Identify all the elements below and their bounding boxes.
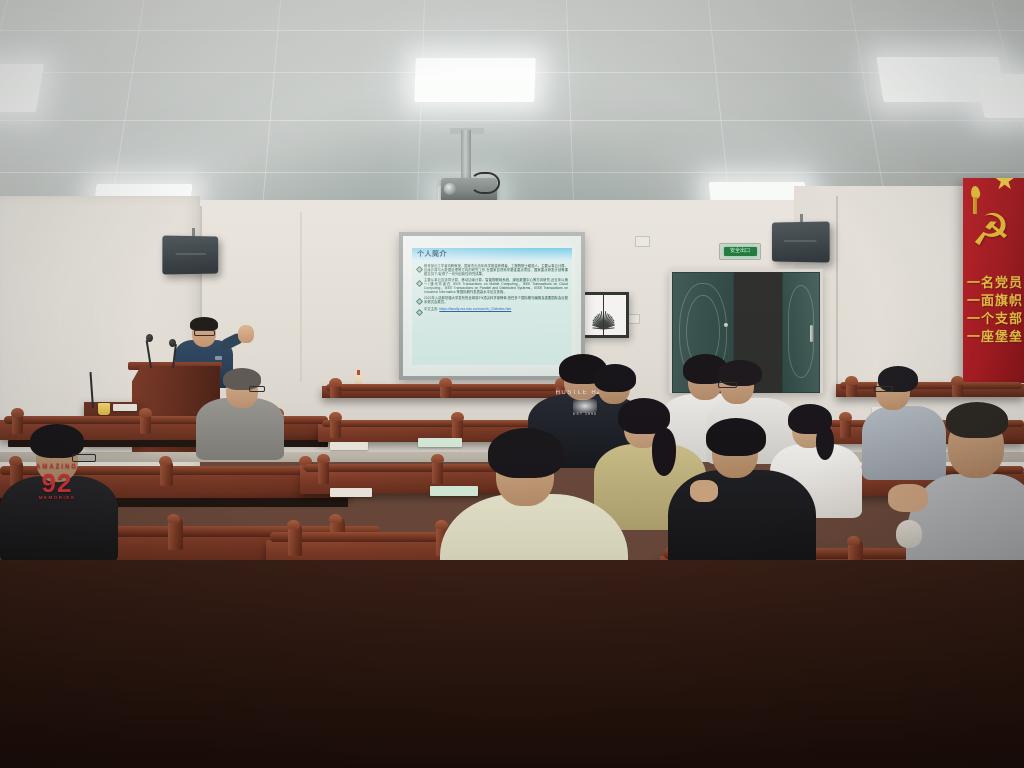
exit-sign-text: 安全出口 xyxy=(730,247,750,256)
door-knob-icon[interactable] xyxy=(724,323,728,327)
door-handle-icon[interactable] xyxy=(810,325,813,342)
slide-hyperlink[interactable]: https://faculty.xxx.edu.cn/xxxx/zh_CN/in… xyxy=(439,307,511,311)
projection-screen: 个人简介 教育部长江学者特聘教授、国家杰出青年科学基金获得者、工程院院士候选人。… xyxy=(399,232,585,380)
tshirt-text-bottom: EST 1990 xyxy=(550,413,620,417)
door-leaf-right-open[interactable] xyxy=(782,272,820,393)
tshirt-text-number: 92 xyxy=(20,470,94,496)
projector-lens-icon xyxy=(444,183,456,195)
hand-at-chin xyxy=(690,480,718,502)
wall-speaker-left xyxy=(162,235,218,274)
table-paper[interactable] xyxy=(113,404,137,411)
projector-cable xyxy=(470,172,500,194)
bullet-marker-icon xyxy=(416,309,423,316)
ponytail xyxy=(652,428,676,476)
ponytail xyxy=(816,426,834,460)
desk-paper[interactable] xyxy=(418,438,462,447)
lecture-hall-photo: 安全出口 xyxy=(0,0,1024,768)
desk-paper[interactable] xyxy=(430,486,478,496)
microphone-head-icon xyxy=(146,334,153,342)
tshirt-text-bottom: MEMORIES xyxy=(20,496,94,501)
banner-line: 一面旗帜 xyxy=(967,292,1022,310)
ceiling-light-panel xyxy=(975,74,1024,118)
presenter-hair xyxy=(190,317,218,331)
slide-title-bar: 个人简介 xyxy=(412,248,572,262)
exit-sign: 安全出口 xyxy=(719,243,761,260)
eyeglasses-icon xyxy=(718,382,737,388)
slide-bullet: 中文主页: https://faculty.xxx.edu.cn/xxxx/zh… xyxy=(417,308,568,315)
bullet-marker-icon xyxy=(416,266,423,273)
eyeglasses-icon xyxy=(249,386,265,392)
bullet-marker-icon xyxy=(416,280,423,287)
slide-bullet-text: 教育部长江学者特聘教授、国家杰出青年科学基金获得者、工程院院士候选人。主要从事云… xyxy=(424,265,568,277)
banner-line: 一座堡垒 xyxy=(967,328,1022,346)
presenter-hand-gesture xyxy=(238,325,254,343)
banner-line: 一个支部 xyxy=(967,310,1022,328)
banner-line: 一名党员 xyxy=(967,274,1022,292)
hammer-and-sickle-icon: ☭ xyxy=(969,200,1013,262)
slide-bullet-label: 中文主页: xyxy=(424,307,438,311)
ceiling-light-panel xyxy=(414,58,536,102)
slide-title-text: 个人简介 xyxy=(412,248,572,262)
floor xyxy=(0,560,1024,768)
clasped-hands xyxy=(888,484,928,512)
desk-paper[interactable] xyxy=(330,442,368,450)
tshirt-graphic: AMAZING 92 MEMORIES xyxy=(20,464,94,501)
presentation-slide: 个人简介 教育部长江学者特聘教授、国家杰出青年科学基金获得者、工程院院士候选人。… xyxy=(412,248,572,365)
tshirt-emblem-icon xyxy=(573,399,597,413)
slide-bullet-text: 2022年入选斯坦福大学发布的全球前2%顶尖科学家榜单,担任多个国际期刊编委及重… xyxy=(424,297,568,305)
microphone-head-icon xyxy=(169,339,176,347)
eyeglasses-icon xyxy=(72,454,96,462)
party-slogan-banner: ★ ☭ 一名党员 一面旗帜 一个支部 一座堡垒 xyxy=(963,178,1024,383)
tshirt-text-top: AMAZING xyxy=(20,464,94,470)
wall-outlet[interactable] xyxy=(635,236,650,247)
desk-paper[interactable] xyxy=(330,488,372,497)
slide-bullet-text: 中文主页: https://faculty.xxx.edu.cn/xxxx/zh… xyxy=(424,308,511,315)
slide-bullet: 2022年入选斯坦福大学发布的全球前2%顶尖科学家榜单,担任多个国际期刊编委及重… xyxy=(417,297,568,305)
wall-speaker-right xyxy=(772,221,830,262)
slide-bullet: 教育部长江学者特聘教授、国家杰出青年科学基金获得者、工程院院士候选人。主要从事云… xyxy=(417,265,568,277)
paper-cup[interactable] xyxy=(98,403,110,415)
eyeglasses-icon xyxy=(874,386,893,392)
eyeglasses-icon xyxy=(194,330,215,336)
slide-bullet: 主要从事云边协同计算、移动边缘计算、智能物联网系统、绿色数据中心等方向研究,近五… xyxy=(417,279,568,295)
slide-bullet-text: 主要从事云边协同计算、移动边缘计算、智能物联网系统、绿色数据中心等方向研究,近五… xyxy=(424,279,568,295)
bullet-marker-icon xyxy=(416,298,423,305)
